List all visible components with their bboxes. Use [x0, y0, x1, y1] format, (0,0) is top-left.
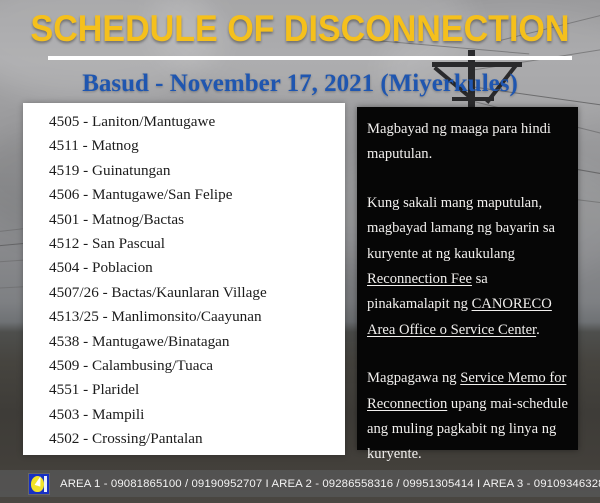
- note2-text-c: .: [536, 322, 540, 338]
- note-paragraph-2: Kung sakali mang maputulan, magbayad lam…: [367, 191, 570, 343]
- utility-pole-crossarm: [432, 62, 522, 67]
- note2-text-a: Kung sakali mang maputulan, magbayad lam…: [367, 195, 555, 262]
- title-divider: [48, 56, 572, 60]
- list-item: 4509 - Calambusing/Tuaca: [49, 354, 345, 378]
- contact-numbers: AREA 1 - 09081865100 / 09190952707 I ARE…: [60, 478, 600, 490]
- list-item: 4538 - Mantugawe/Binatagan: [49, 330, 345, 354]
- notes-body: Magbayad ng maaga para hindi maputulan. …: [357, 107, 578, 468]
- page-subtitle: Basud - November 17, 2021 (Miyerkules): [0, 68, 600, 100]
- schedule-list: 4505 - Laniton/Mantugawe4511 - Matnog451…: [23, 103, 345, 452]
- poster-canvas: SCHEDULE OF DISCONNECTION Basud - Novemb…: [0, 0, 600, 503]
- list-item: 4511 - Matnog: [49, 134, 345, 158]
- logo-bar-shape: [44, 476, 47, 492]
- reconnection-fee-link: Reconnection Fee: [367, 271, 472, 287]
- list-item: 4503 - Mampili: [49, 403, 345, 427]
- page-title: SCHEDULE OF DISCONNECTION: [24, 8, 576, 50]
- note-paragraph-1: Magbayad ng maaga para hindi maputulan.: [367, 117, 570, 168]
- note3-text-a: Magpagawa ng: [367, 370, 460, 386]
- list-item: 4505 - Laniton/Mantugawe: [49, 110, 345, 134]
- contact-footer: AREA 1 - 09081865100 / 09190952707 I ARE…: [0, 470, 600, 497]
- list-item: 4504 - Poblacion: [49, 256, 345, 280]
- list-item: 4502 - Crossing/Pantalan: [49, 427, 345, 451]
- note-paragraph-3: Magpagawa ng Service Memo for Reconnecti…: [367, 366, 570, 468]
- list-item: 4551 - Plaridel: [49, 378, 345, 402]
- list-item: 4519 - Guinatungan: [49, 159, 345, 183]
- canoreco-logo-icon: [29, 474, 49, 494]
- list-item: 4501 - Matnog/Bactas: [49, 208, 345, 232]
- schedule-list-panel: 4505 - Laniton/Mantugawe4511 - Matnog451…: [23, 103, 345, 455]
- list-item: 4506 - Mantugawe/San Felipe: [49, 183, 345, 207]
- list-item: 4507/26 - Bactas/Kaunlaran Village: [49, 281, 345, 305]
- list-item: 4513/25 - Manlimonsito/Caayunan: [49, 305, 345, 329]
- list-item: 4512 - San Pascual: [49, 232, 345, 256]
- notes-panel: Magbayad ng maaga para hindi maputulan. …: [357, 107, 578, 450]
